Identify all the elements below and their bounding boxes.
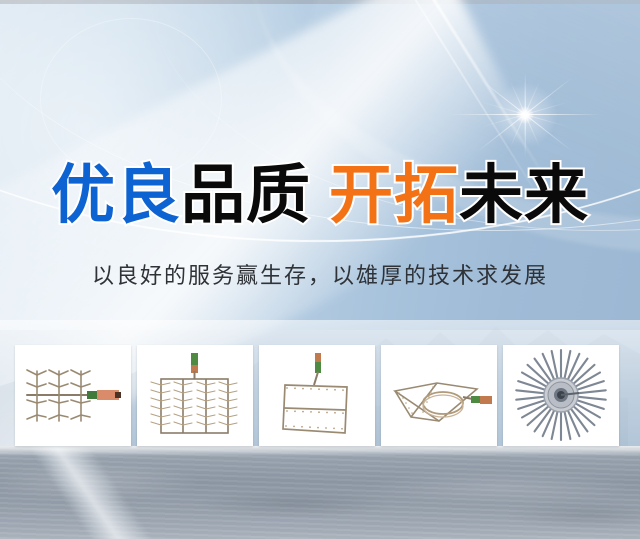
headline-segment-1: 优良 xyxy=(51,163,181,231)
ground-horizon-sheen xyxy=(0,446,640,456)
product-card-1[interactable]: 梳齿型加热元件支架 xyxy=(15,345,131,446)
flare-core xyxy=(516,106,534,124)
product-card-4[interactable]: 平板带环挂具 xyxy=(381,345,497,446)
rectangular-frame-fixture-icon xyxy=(259,345,375,446)
radial-sunburst-fixture-icon xyxy=(503,345,619,446)
double-row-pin-rack-icon xyxy=(137,345,253,446)
headline-segment-2: 品质 xyxy=(181,163,311,231)
product-card-5[interactable]: 放射状星型挂具 xyxy=(503,345,619,446)
product-card-2[interactable]: 双排针状挂具 xyxy=(137,345,253,446)
headline-segment-4: 未来 xyxy=(459,163,589,231)
subtitle: 以良好的服务赢生存，以雄厚的技术求发展 xyxy=(0,258,640,290)
headline: 优良品质开拓未来 xyxy=(0,163,640,231)
flat-panel-ring-fixture-icon xyxy=(381,345,497,446)
promotional-banner: 优良品质开拓未来 以良好的服务赢生存，以雄厚的技术求发展 梳齿型加热元件支架 xyxy=(0,0,640,539)
comb-type-heating-element-rack-icon xyxy=(15,345,131,446)
product-card-3[interactable]: 矩形框架挂具 xyxy=(259,345,375,446)
headline-segment-3: 开拓 xyxy=(329,163,459,231)
ground-surface xyxy=(0,446,640,539)
product-card-strip: 梳齿型加热元件支架 xyxy=(15,345,625,446)
